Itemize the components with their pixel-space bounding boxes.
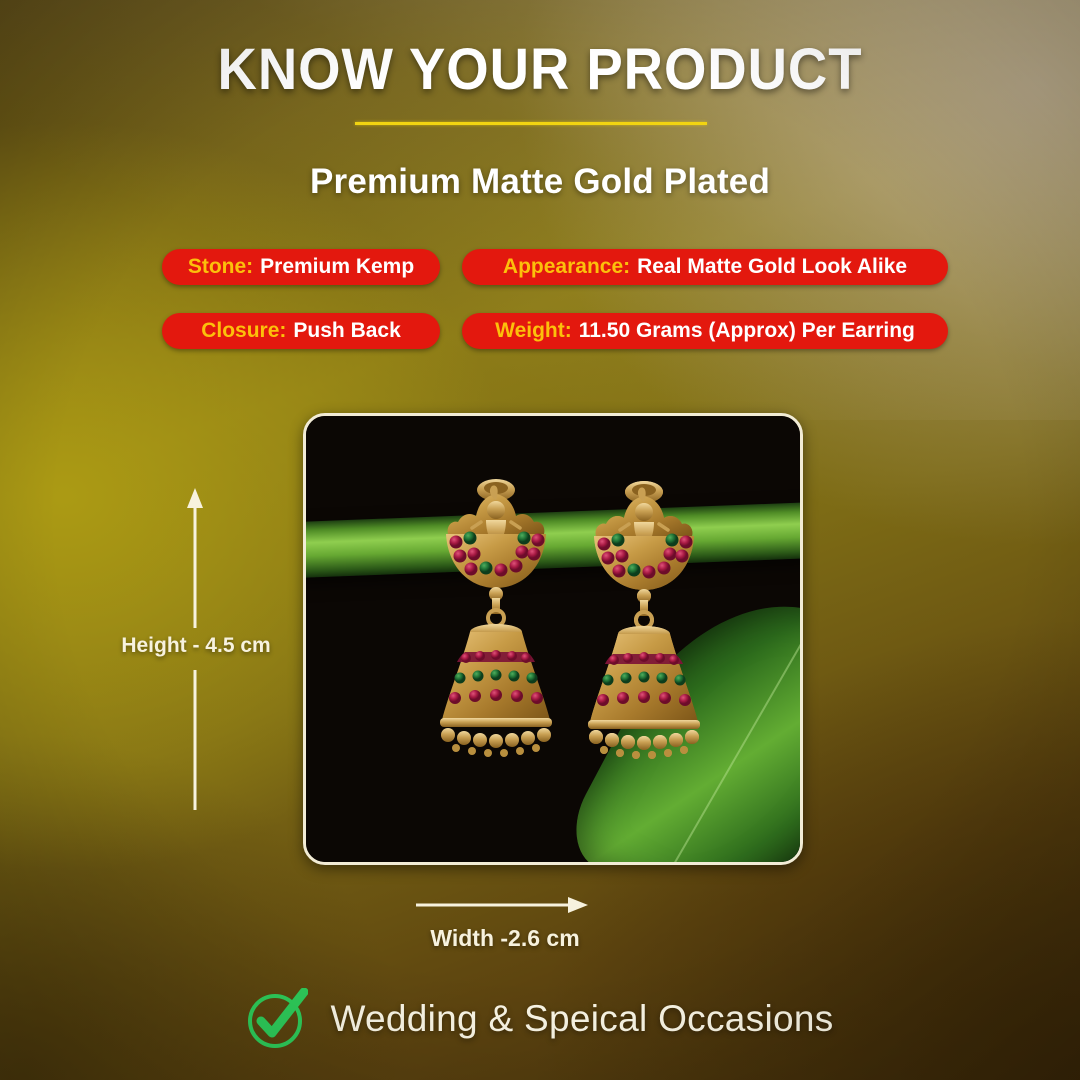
spec-value: 11.50 Grams (Approx) Per Earring xyxy=(579,319,915,343)
spec-label: Appearance: xyxy=(503,255,630,279)
spec-badge-stone: Stone: Premium Kemp xyxy=(162,249,440,285)
spec-badge-closure: Closure: Push Back xyxy=(162,313,440,349)
spec-value: Premium Kemp xyxy=(260,255,414,279)
product-photo-background xyxy=(306,416,800,862)
spec-label: Closure: xyxy=(201,319,286,343)
page-subtitle: Premium Matte Gold Plated xyxy=(0,162,1080,202)
check-circle-icon xyxy=(246,988,308,1050)
spec-label: Stone: xyxy=(188,255,253,279)
infographic-canvas: KNOW YOUR PRODUCT Premium Matte Gold Pla… xyxy=(0,0,1080,1080)
footer-text: Wedding & Speical Occasions xyxy=(330,998,833,1040)
product-photo xyxy=(303,413,803,865)
spec-badge-weight: Weight: 11.50 Grams (Approx) Per Earring xyxy=(462,313,948,349)
earring-left xyxy=(426,476,566,806)
width-dimension-arrow xyxy=(416,896,588,914)
spec-label: Weight: xyxy=(495,319,572,343)
page-title: KNOW YOUR PRODUCT xyxy=(32,36,1047,103)
height-dimension-label: Height - 4.5 cm xyxy=(104,634,288,658)
width-dimension-label: Width -2.6 cm xyxy=(380,925,630,952)
spec-value: Push Back xyxy=(293,319,400,343)
spec-value: Real Matte Gold Look Alike xyxy=(637,255,907,279)
spec-badge-appearance: Appearance: Real Matte Gold Look Alike xyxy=(462,249,948,285)
footer: Wedding & Speical Occasions xyxy=(0,988,1080,1050)
title-divider xyxy=(355,122,707,125)
earring-right xyxy=(574,478,714,808)
